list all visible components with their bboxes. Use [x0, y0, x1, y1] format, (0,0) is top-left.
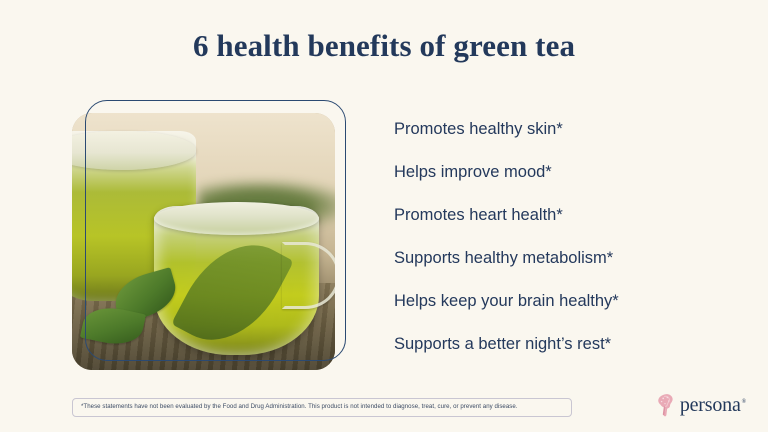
photo-front-cup-rim [154, 202, 320, 235]
benefit-item-3: Promotes heart health* [394, 194, 724, 237]
persona-wordmark-text: persona [680, 394, 741, 416]
benefit-item-1: Promotes healthy skin* [394, 108, 724, 151]
persona-logo: persona® [656, 392, 746, 418]
benefit-item-6: Supports a better night’s rest* [394, 323, 724, 366]
media-block [72, 100, 348, 370]
benefit-item-5: Helps keep your brain healthy* [394, 280, 724, 323]
benefits-list: Promotes healthy skin* Helps improve moo… [394, 108, 724, 366]
page-title: 6 health benefits of green tea [0, 28, 768, 64]
trademark-icon: ® [742, 399, 746, 405]
benefit-item-2: Helps improve mood* [394, 151, 724, 194]
persona-brain-icon [656, 393, 676, 417]
persona-wordmark: persona® [680, 395, 746, 415]
benefit-item-4: Supports healthy metabolism* [394, 237, 724, 280]
green-tea-photo [72, 113, 335, 370]
photo-cup-handle [282, 242, 335, 310]
fda-disclaimer-box: *These statements have not been evaluate… [72, 398, 572, 417]
slide-canvas: 6 health benefits of green tea Promotes … [0, 0, 768, 432]
fda-disclaimer-text: *These statements have not been evaluate… [81, 404, 518, 411]
